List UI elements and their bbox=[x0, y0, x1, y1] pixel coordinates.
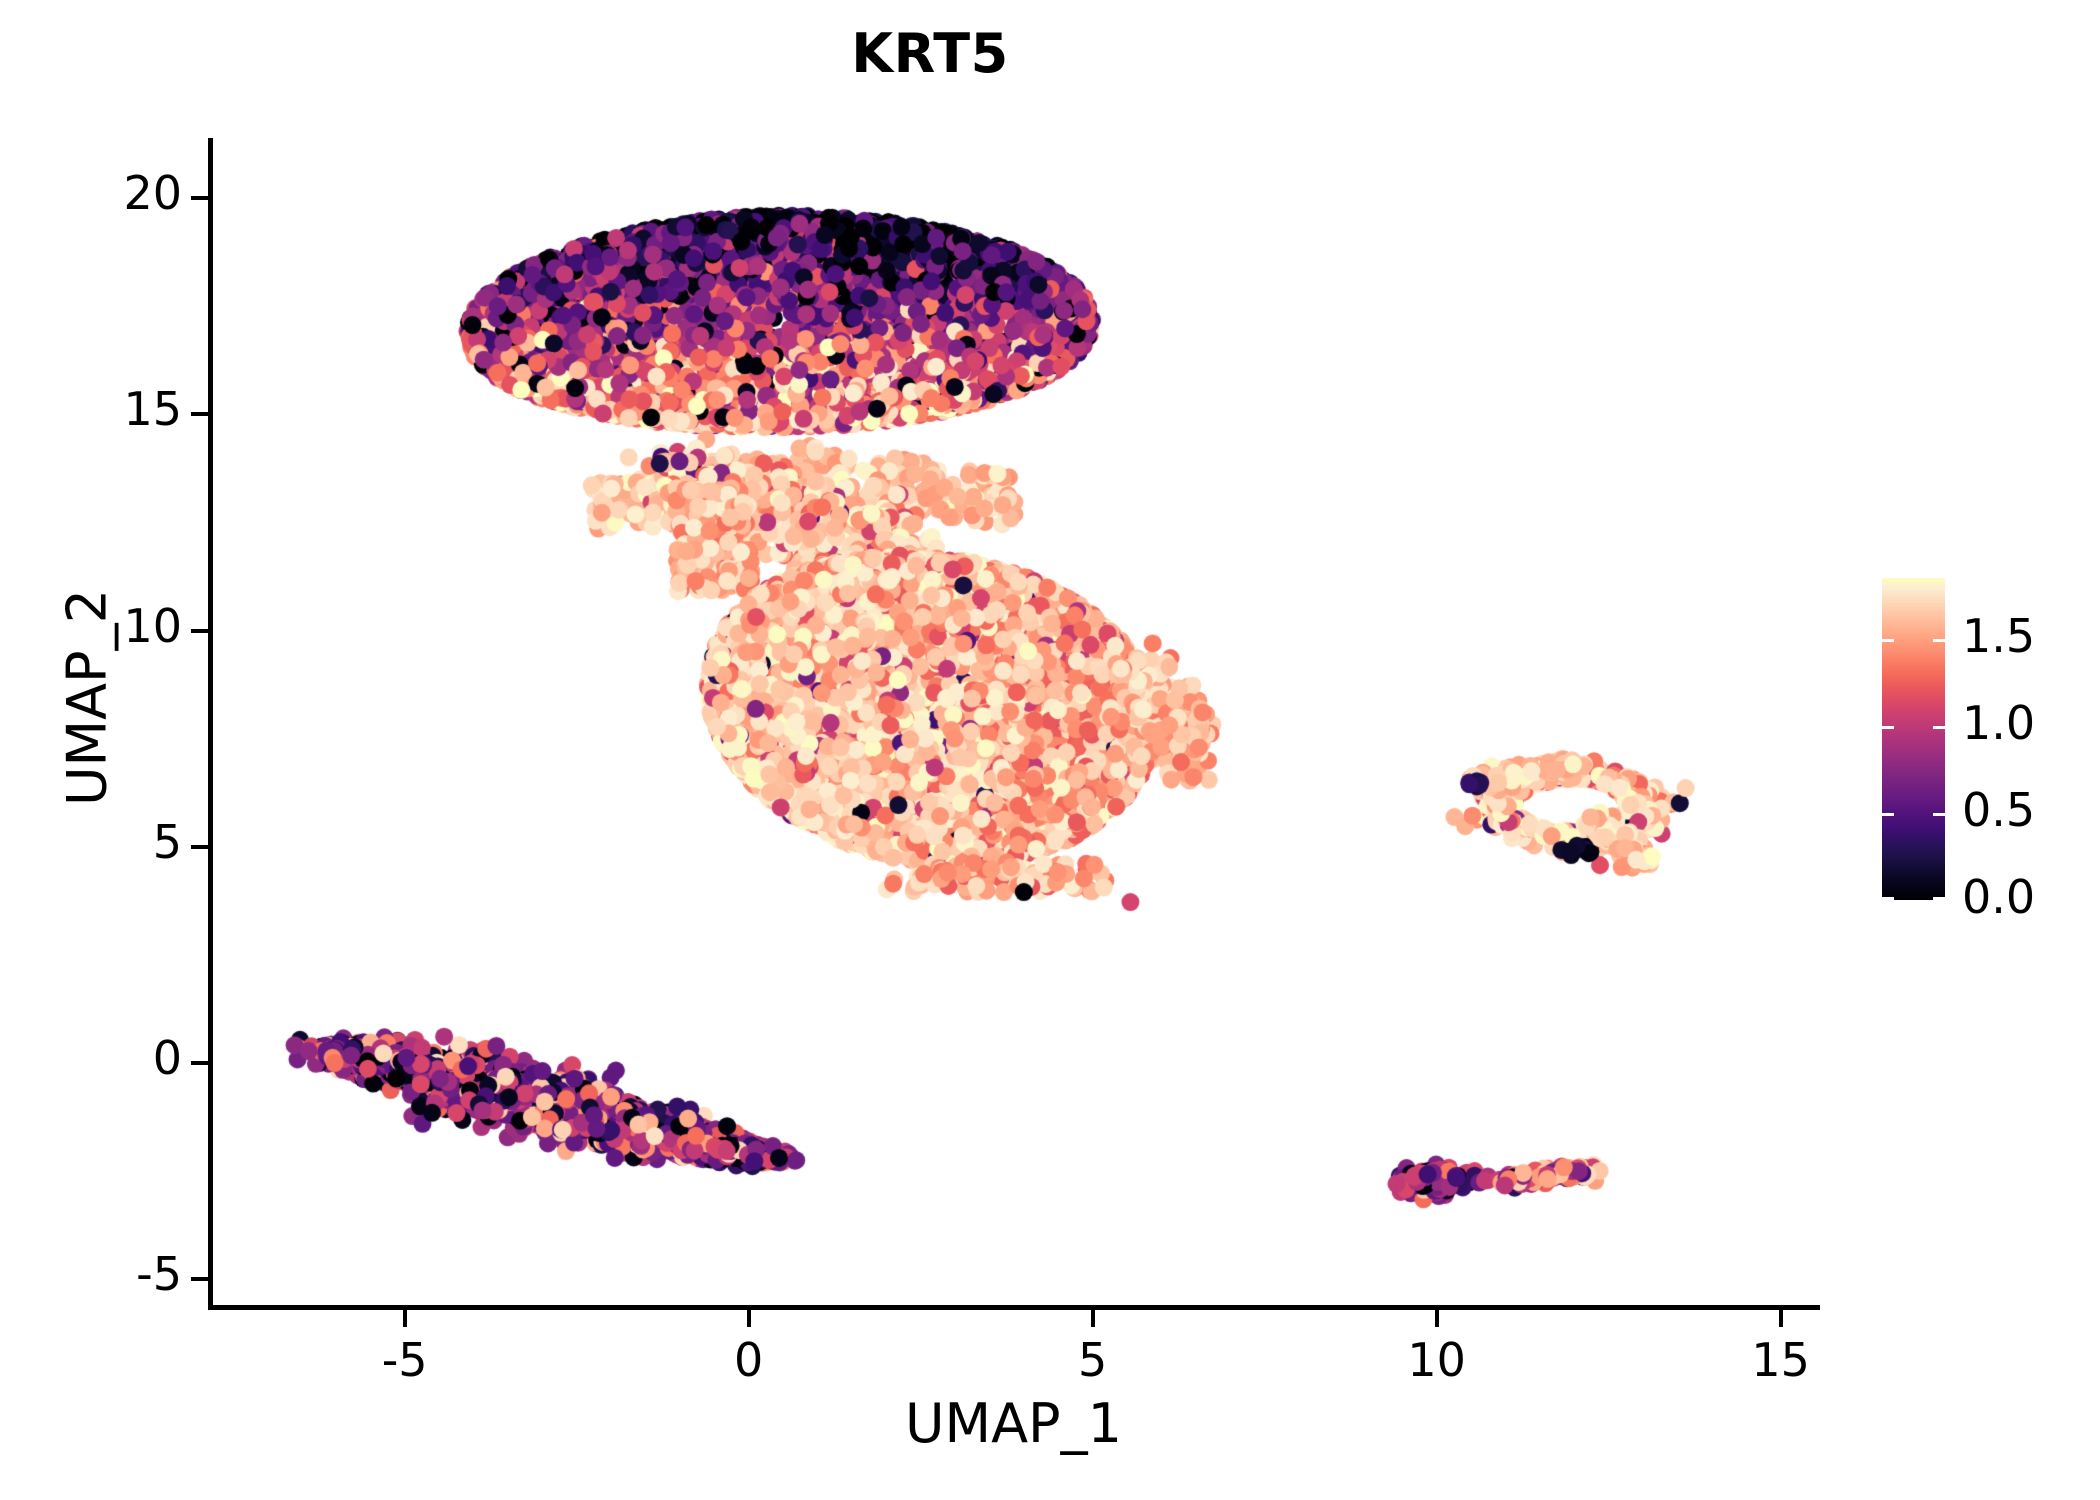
colorbar-tick-label: 0.0 bbox=[1962, 870, 2035, 924]
x-axis-spine bbox=[208, 1305, 1820, 1310]
scatter-points bbox=[212, 142, 1815, 1305]
colorbar-tick-mark bbox=[1882, 813, 1894, 816]
colorbar-tick-label: 1.5 bbox=[1962, 609, 2035, 663]
y-tick-mark bbox=[191, 196, 208, 200]
colorbar-tick-mark bbox=[1882, 897, 1894, 900]
colorbar-tick-label: 1.0 bbox=[1962, 696, 2035, 750]
y-tick-mark bbox=[191, 412, 208, 416]
y-tick-mark bbox=[191, 1277, 208, 1281]
x-tick-mark bbox=[1091, 1310, 1095, 1327]
x-tick-mark bbox=[403, 1310, 407, 1327]
colorbar-legend: 1.51.00.50.0 bbox=[1882, 578, 2082, 900]
x-tick-mark bbox=[1779, 1310, 1783, 1327]
colorbar-tick-mark bbox=[1933, 897, 1945, 900]
x-tick-mark bbox=[1435, 1310, 1439, 1327]
colorbar-tick-mark bbox=[1933, 639, 1945, 642]
x-tick-label: -5 bbox=[305, 1333, 505, 1387]
y-tick-mark bbox=[191, 845, 208, 849]
colorbar-tick-label: 0.5 bbox=[1962, 783, 2035, 837]
x-tick-label: 15 bbox=[1681, 1333, 1881, 1387]
x-tick-label: 0 bbox=[649, 1333, 849, 1387]
x-tick-label: 5 bbox=[993, 1333, 1193, 1387]
y-tick-label: -5 bbox=[0, 1247, 182, 1301]
umap-feature-plot: KRT5 20151050-5 -5051015 UMAP_2 UMAP_1 1… bbox=[0, 0, 2100, 1500]
colorbar-gradient bbox=[1882, 578, 1945, 900]
y-axis-label: UMAP_2 bbox=[56, 348, 119, 1048]
x-axis-label: UMAP_1 bbox=[212, 1392, 1815, 1455]
x-tick-label: 10 bbox=[1337, 1333, 1537, 1387]
y-tick-label: 20 bbox=[0, 166, 182, 220]
colorbar-tick-mark bbox=[1933, 813, 1945, 816]
x-tick-mark bbox=[747, 1310, 751, 1327]
y-tick-mark bbox=[191, 1061, 208, 1065]
y-tick-mark bbox=[191, 629, 208, 633]
colorbar-tick-mark bbox=[1882, 639, 1894, 642]
colorbar-tick-mark bbox=[1933, 726, 1945, 729]
colorbar-tick-mark bbox=[1882, 726, 1894, 729]
plot-area bbox=[212, 142, 1815, 1305]
page-title: KRT5 bbox=[0, 22, 1860, 85]
